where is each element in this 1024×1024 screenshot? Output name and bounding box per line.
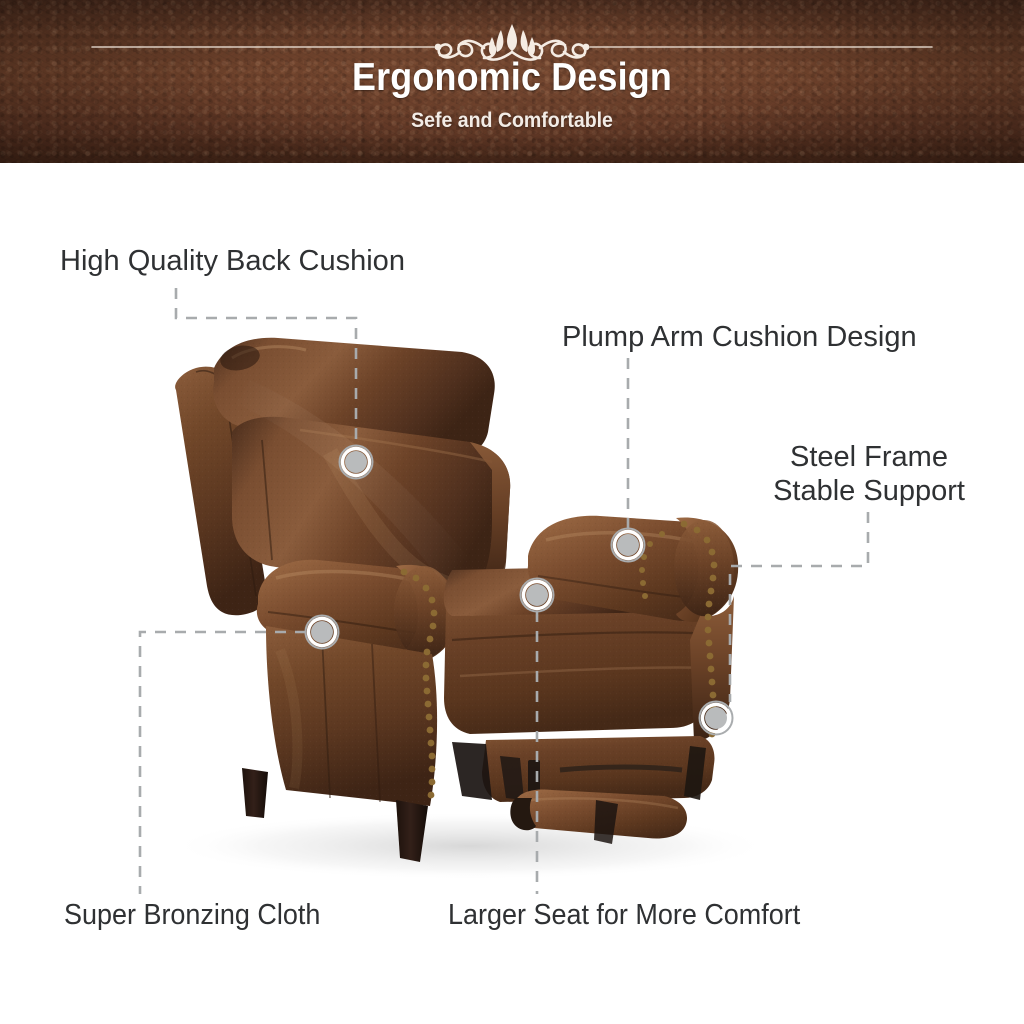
connector-steel-frame (730, 512, 868, 702)
product-illustration (0, 0, 1024, 1024)
callout-label-steel-frame: Steel Frame Stable Support (762, 440, 976, 508)
infographic-canvas: Ergonomic Design Sefe and Comfortable (0, 0, 1024, 1024)
callout-label-arm-cushion: Plump Arm Cushion Design (562, 320, 917, 354)
callout-label-larger-seat: Larger Seat for More Comfort (448, 898, 800, 932)
callout-label-back-cushion: High Quality Back Cushion (60, 244, 405, 278)
front-left-leg (242, 768, 268, 818)
steel-frame-line2: Stable Support (762, 474, 976, 508)
callout-label-bronzing-cloth: Super Bronzing Cloth (64, 898, 320, 932)
steel-frame-line1: Steel Frame (762, 440, 976, 474)
recliner-chair (175, 338, 738, 862)
